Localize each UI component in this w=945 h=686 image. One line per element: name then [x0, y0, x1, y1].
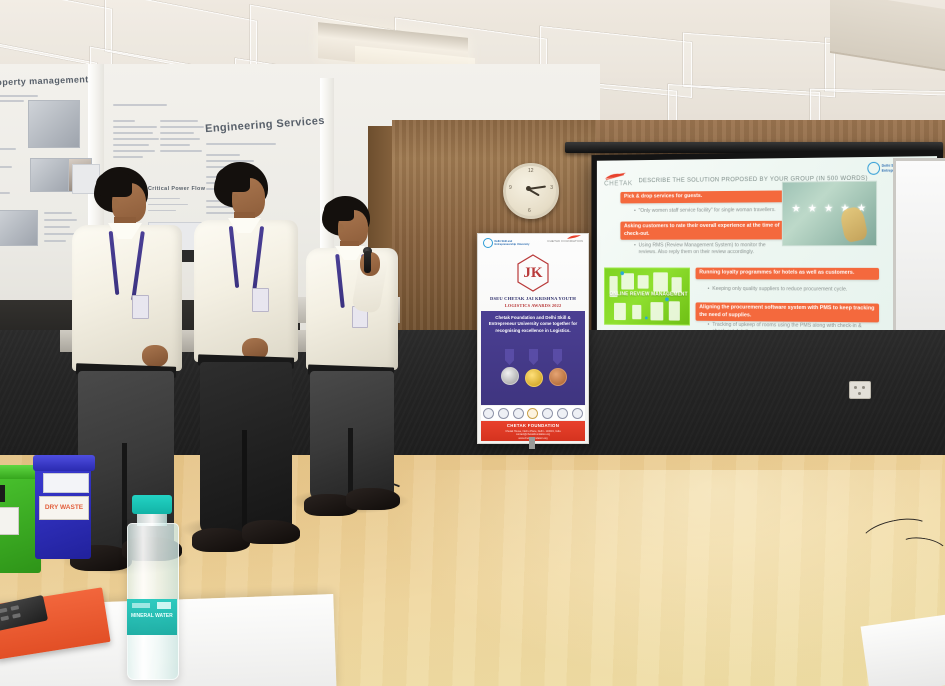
star-icon: ★	[808, 202, 817, 215]
presenter-right	[300, 196, 420, 516]
dry-waste-bin-top-label	[43, 473, 89, 493]
star-icon: ★	[824, 202, 833, 215]
category-icon	[483, 408, 494, 419]
banner-purple-panel: Chetak Foundation and Delhi Skill & Entr…	[481, 311, 585, 405]
category-icon	[498, 408, 509, 419]
hair-front	[324, 199, 354, 221]
bottle-cap[interactable]	[132, 495, 172, 514]
ear	[338, 224, 344, 233]
shoe	[242, 520, 300, 544]
medal-ribbon	[553, 349, 562, 365]
category-icon	[542, 408, 553, 419]
category-icon	[513, 408, 524, 419]
chetak-logo-icon	[604, 172, 628, 181]
ear	[112, 199, 119, 209]
bottle-neck	[137, 512, 167, 526]
slide-bullet-2: Using RMS (Review Management System) to …	[639, 242, 777, 256]
slide-brand-left: CHETAK	[604, 180, 633, 187]
dry-waste-bin-lid[interactable]	[33, 455, 95, 471]
slide-highlight-4: Aligning the procurement software system…	[696, 302, 879, 322]
medal-ribbon	[505, 349, 514, 365]
banner-title-line1: DSEU CHETAK JAI KRISHNA YOUTH	[478, 296, 588, 301]
slide-surface: Delhi Skill and Entrepreneurship Univers…	[597, 156, 937, 347]
microphone[interactable]	[364, 251, 371, 273]
banner-category-icons	[481, 406, 585, 420]
white-table-right	[861, 614, 945, 686]
medal-bronze	[549, 368, 567, 386]
slide-highlight-3: Running loyalty programmes for hotels as…	[696, 268, 879, 280]
hand-clasped	[142, 345, 168, 367]
floor-light-reflection	[380, 470, 940, 686]
banner-logos: Delhi Skill and Entrepreneurship Univers…	[478, 236, 588, 252]
bottle-label: MINERAL WATER	[127, 599, 177, 635]
banner-dseu-text: Delhi Skill and Entrepreneurship Univers…	[495, 240, 530, 246]
wall-clock: 12 3 6 9	[503, 163, 559, 219]
category-icon	[557, 408, 568, 419]
medal-gold	[525, 369, 543, 387]
whiteboard	[893, 158, 945, 354]
orm-image-label: ONLINE REVIEW MANAGEMENT	[610, 291, 688, 297]
banner-subtitle: Chetak Foundation and Delhi Skill & Entr…	[486, 315, 580, 334]
water-bottle[interactable]: MINERAL WATER	[121, 495, 183, 680]
banner-emblem-letters: JK	[516, 254, 550, 292]
banner-dseu-line2: Entrepreneurship University	[495, 243, 530, 246]
dseu-logo-icon	[867, 162, 880, 175]
slide-bullet-1: "Only women staff service facility" for …	[639, 207, 780, 215]
dry-waste-bin-label: DRY WASTE	[39, 496, 89, 520]
id-badge	[132, 295, 149, 319]
category-icon	[572, 408, 583, 419]
roll-up-banner: Delhi Skill and Entrepreneurship Univers…	[477, 233, 589, 444]
banner-title-line2: LOGISTICS AWARDS 2022	[478, 303, 588, 308]
wall-poster-title-1: Property management	[0, 74, 89, 88]
trophy-icon	[527, 408, 538, 419]
online-review-management-image: ONLINE REVIEW MANAGEMENT	[604, 267, 690, 325]
wet-waste-bin-label	[0, 507, 19, 535]
banner-pole	[529, 437, 535, 449]
hair-front	[96, 171, 132, 197]
bottle-label-text: MINERAL WATER	[131, 613, 173, 619]
medal-ribbon	[529, 349, 538, 365]
hair-front	[216, 166, 250, 192]
poster-image-rack	[28, 100, 80, 148]
banner-dseu-logo: Delhi Skill and Entrepreneurship Univers…	[483, 238, 529, 248]
dry-waste-bin-label-text: DRY WASTE	[45, 505, 83, 512]
wall-power-socket[interactable]	[849, 381, 871, 399]
banner-emblem: JK	[516, 254, 550, 292]
banner-footer-title: CHETAK FOUNDATION	[481, 423, 585, 428]
five-star-rating-image: ★ ★ ★ ★ ★	[782, 181, 877, 247]
medal-silver	[501, 367, 519, 385]
slide-highlight-1: Pick & drop services for guests.	[620, 190, 787, 203]
presentation-room-photo: Property management Critical Power Flow	[0, 0, 945, 686]
ear	[232, 194, 239, 204]
trouser-split	[242, 430, 247, 534]
waste-bins: DRY WASTE	[0, 455, 90, 575]
dseu-logo-icon	[483, 238, 493, 248]
slide-highlight-2: Asking customers to rate their overall e…	[620, 221, 787, 240]
clock-center	[526, 186, 531, 191]
star-icon: ★	[791, 202, 800, 215]
wet-waste-bin-tag	[0, 485, 5, 502]
poster-image-cab2	[0, 210, 38, 246]
shoe	[346, 488, 400, 510]
wall-poster-title-2: Engineering Services	[205, 115, 325, 135]
id-badge	[252, 288, 269, 312]
slide-bullet-3: Keeping only quality suppliers to reduce…	[712, 286, 872, 294]
banner-chetak-text: CHETAK FOUNDATION	[547, 239, 583, 243]
